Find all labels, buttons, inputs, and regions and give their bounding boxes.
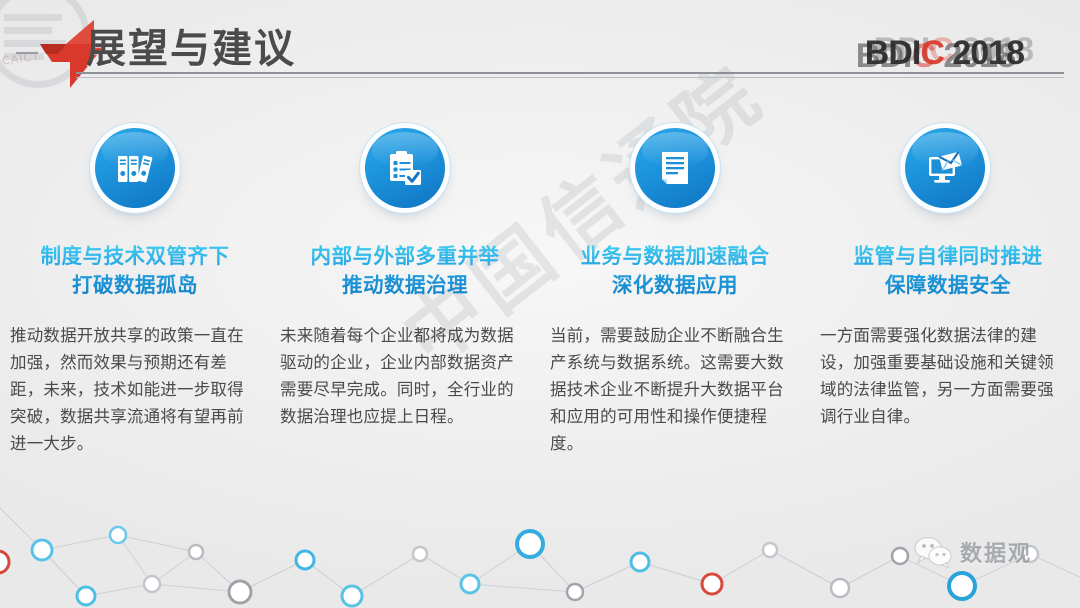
brand-tick-mark: [16, 52, 38, 54]
column-3-body: 当前，需要鼓励企业不断融合生产系统与数据系统。这需要大数据技术企业不断提升大数据…: [550, 322, 800, 457]
column-1-heading-line-1: 制度与技术双管齐下: [41, 242, 230, 271]
column-4-heading-line-1: 监管与自律同时推进: [854, 242, 1043, 271]
icon-badge-4: [905, 128, 985, 208]
column-1-body: 推动数据开放共享的政策一直在加强，然而效果与预期还有差距，未来，技术如能进一步取…: [10, 322, 260, 457]
monitor-envelope-icon: [923, 146, 967, 190]
column-2-heading-line-2: 推动数据治理: [311, 271, 500, 300]
column-1-heading-line-2: 打破数据孤岛: [41, 271, 230, 300]
column-1: 制度与技术双管齐下 打破数据孤岛 推动数据开放共享的政策一直在加强，然而效果与预…: [0, 128, 270, 538]
binders-archive-icon: [113, 146, 157, 190]
icon-badge-1: [95, 128, 175, 208]
column-3-heading-line-1: 业务与数据加速融合: [581, 242, 770, 271]
document-page-icon: [653, 146, 697, 190]
column-4-body: 一方面需要强化数据法律的建设，加强重要基础设施和关键领域的法律监管，另一方面需要…: [820, 322, 1070, 430]
column-3-heading-line-2: 深化数据应用: [581, 271, 770, 300]
icon-badge-3: [635, 128, 715, 208]
recommendation-columns: 制度与技术双管齐下 打破数据孤岛 推动数据开放共享的政策一直在加强，然而效果与预…: [0, 128, 1080, 538]
brand-layer-front: BDIC 2018: [865, 34, 1024, 73]
brand-ghost-text: BDIC 2018 BDIC 2018 BDIC 2018 BDIC 2018: [865, 34, 1024, 73]
slide-canvas: 中国信通院 CAICT 展望与建议 BDIC 2018 BDIC 2018 BD…: [0, 0, 1080, 608]
icon-badge-2: [365, 128, 445, 208]
brand-layer-mid: BDIC 2018: [856, 37, 1015, 76]
column-2-heading: 内部与外部多重并举 推动数据治理: [311, 242, 500, 300]
column-4-heading-line-2: 保障数据安全: [854, 271, 1043, 300]
column-2-body: 未来随着每个企业都将成为数据驱动的企业，企业内部数据资产需要尽早完成。同时，全行…: [280, 322, 530, 430]
column-1-heading: 制度与技术双管齐下 打破数据孤岛: [41, 242, 230, 300]
page-title: 展望与建议: [86, 16, 296, 74]
brand-layer-back: BDIC 2018: [874, 31, 1033, 70]
column-4: 监管与自律同时推进 保障数据安全 一方面需要强化数据法律的建设，加强重要基础设施…: [810, 128, 1080, 538]
column-3-heading: 业务与数据加速融合 深化数据应用: [581, 242, 770, 300]
column-3: 业务与数据加速融合 深化数据应用 当前，需要鼓励企业不断融合生产系统与数据系统。…: [540, 128, 810, 538]
column-4-heading: 监管与自律同时推进 保障数据安全: [854, 242, 1043, 300]
column-2-heading-line-1: 内部与外部多重并举: [311, 242, 500, 271]
brand-lockup: BDIC 2018 BDIC 2018 BDIC 2018 BDIC 2018: [865, 32, 1024, 74]
header-divider: [76, 72, 1064, 80]
column-2: 内部与外部多重并举 推动数据治理 未来随着每个企业都将成为数据驱动的企业，企业内…: [270, 128, 540, 538]
checklist-clipboard-check-icon: [383, 146, 427, 190]
slide-header: 展望与建议 BDIC 2018 BDIC 2018 BDIC 2018 BDIC…: [0, 0, 1080, 96]
